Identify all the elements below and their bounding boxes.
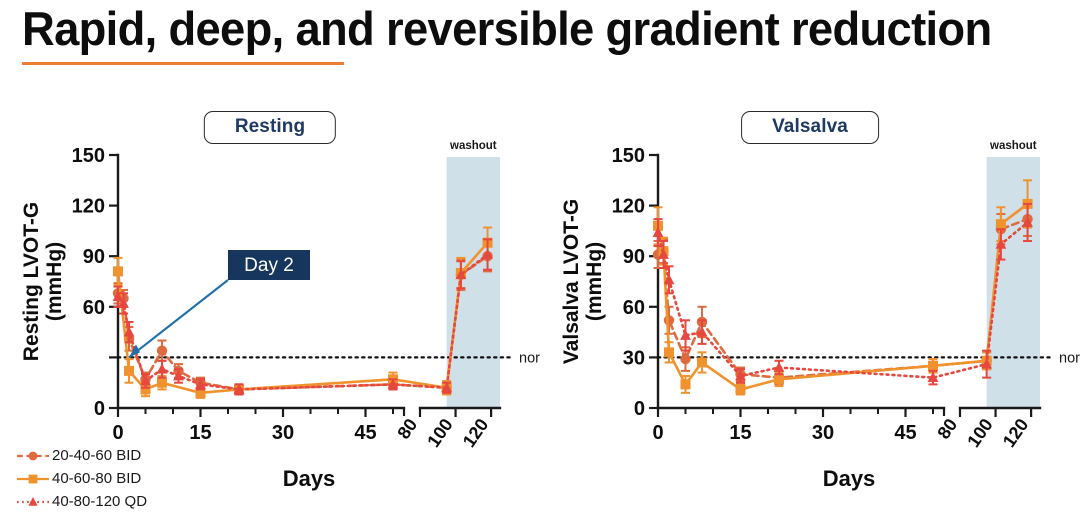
series-line <box>658 204 1028 390</box>
title-block: Rapid, deep, and reversible gradient red… <box>22 2 1068 64</box>
x-axis-tick-label: 120 <box>459 415 493 451</box>
data-point <box>996 219 1006 229</box>
x-axis-tick-label: 30 <box>812 422 834 444</box>
data-point <box>157 345 167 355</box>
data-point <box>157 378 167 388</box>
x-axis-tick-label: 100 <box>963 415 997 451</box>
legend-key-icon <box>14 492 52 512</box>
chart-series <box>653 180 1033 394</box>
y-axis-title: Valsalva LVOT-G(mmHg) <box>560 199 606 364</box>
x-axis-tick-label-group: 120 <box>999 415 1033 451</box>
y-axis-title-line2: (mmHg) <box>583 242 606 321</box>
data-point <box>157 363 168 373</box>
washout-band <box>447 157 500 408</box>
data-point <box>124 366 134 376</box>
x-axis-title: Days <box>283 466 336 491</box>
legend-item-label: 40-80-120 QD <box>52 493 147 510</box>
y-axis-tick-label: 30 <box>623 347 645 369</box>
data-point <box>774 362 785 372</box>
legend-key-icon <box>14 469 52 489</box>
washout-label: washout <box>449 140 497 152</box>
y-axis-tick-label: 60 <box>623 297 645 319</box>
x-axis-tick-label: 80 <box>393 415 421 443</box>
data-point <box>736 384 746 394</box>
data-point <box>774 374 784 384</box>
normal-threshold-label: normal <box>1059 350 1080 366</box>
page-title: Rapid, deep, and reversible gradient red… <box>22 2 1031 56</box>
chart-title-box-resting: Resting <box>204 111 336 144</box>
x-axis-tick-label-group: 120 <box>459 415 493 451</box>
title-accent-rule <box>22 62 344 65</box>
legend-item-label: 20-40-60 BID <box>52 447 141 464</box>
chart-panel-valsalva: Valsalva washout0306090120150Valsalva LV… <box>540 95 1080 511</box>
y-axis-tick-label: 60 <box>83 297 105 319</box>
legend-marker <box>28 497 37 506</box>
chart-title-valsalva: Valsalva <box>772 116 848 138</box>
x-axis-tick-label: 80 <box>933 415 961 443</box>
x-axis-tick-label-group: 100 <box>963 415 997 451</box>
data-point <box>113 266 123 276</box>
callout-label: Day 2 <box>244 255 294 276</box>
washout-label: washout <box>989 140 1037 152</box>
y-axis-tick-label: 120 <box>612 196 645 218</box>
chart-title-box-valsalva: Valsalva <box>741 111 879 144</box>
legend-item: 40-80-120 QD <box>14 490 244 513</box>
x-axis-tick-label: 100 <box>423 415 457 451</box>
x-axis-title: Days <box>823 466 876 491</box>
y-axis-tick-label: 150 <box>612 145 645 167</box>
data-point <box>681 379 691 389</box>
y-axis-title-line1: Resting LVOT-G <box>20 202 43 361</box>
x-axis-tick-label: 45 <box>354 422 376 444</box>
legend-marker <box>29 451 38 460</box>
x-axis-tick-label: 30 <box>272 422 294 444</box>
x-axis-tick-label: 15 <box>189 422 211 444</box>
chart-title-resting: Resting <box>235 116 305 138</box>
y-axis-title-line1: Valsalva LVOT-G <box>560 199 583 364</box>
y-axis-tick-label: 0 <box>94 398 105 420</box>
x-axis-tick-label-group: 100 <box>423 415 457 451</box>
slide-canvas: Rapid, deep, and reversible gradient red… <box>0 0 1080 511</box>
x-axis-tick-label: 15 <box>729 422 751 444</box>
legend-marker <box>29 474 38 483</box>
legend-item: 20-40-60 BID <box>14 444 244 467</box>
data-point <box>928 361 938 371</box>
legend-key-icon <box>14 446 52 466</box>
callout-leader-line <box>129 280 228 357</box>
legend-item: 40-60-80 BID <box>14 467 244 490</box>
y-axis-tick-label: 90 <box>83 246 105 268</box>
y-axis-title-line2: (mmHg) <box>43 242 66 321</box>
x-axis-tick-label-group: 80 <box>933 415 961 443</box>
chart-svg-valsalva: washout0306090120150Valsalva LVOT-G(mmHg… <box>540 95 1080 511</box>
y-axis-tick-label: 0 <box>634 398 645 420</box>
chart-legend: 20-40-60 BID 40-60-80 BID 40-80-120 QD <box>14 444 244 513</box>
normal-threshold-label: normal <box>519 350 540 366</box>
y-axis-tick-label: 90 <box>623 246 645 268</box>
x-axis-tick-label: 45 <box>894 422 916 444</box>
series-line <box>658 219 1028 378</box>
x-axis-tick-label: 0 <box>112 422 123 444</box>
y-axis-title: Resting LVOT-G(mmHg) <box>20 202 66 361</box>
data-point <box>697 357 707 367</box>
data-point <box>664 315 674 325</box>
legend-item-label: 40-60-80 BID <box>52 470 141 487</box>
x-axis-tick-label: 0 <box>652 422 663 444</box>
data-point <box>664 347 674 357</box>
data-point <box>680 354 690 364</box>
x-axis-tick-label-group: 80 <box>393 415 421 443</box>
y-axis-tick-label: 150 <box>72 145 105 167</box>
series-line <box>658 222 1028 377</box>
y-axis-tick-label: 120 <box>72 196 105 218</box>
x-axis-tick-label: 120 <box>999 415 1033 451</box>
